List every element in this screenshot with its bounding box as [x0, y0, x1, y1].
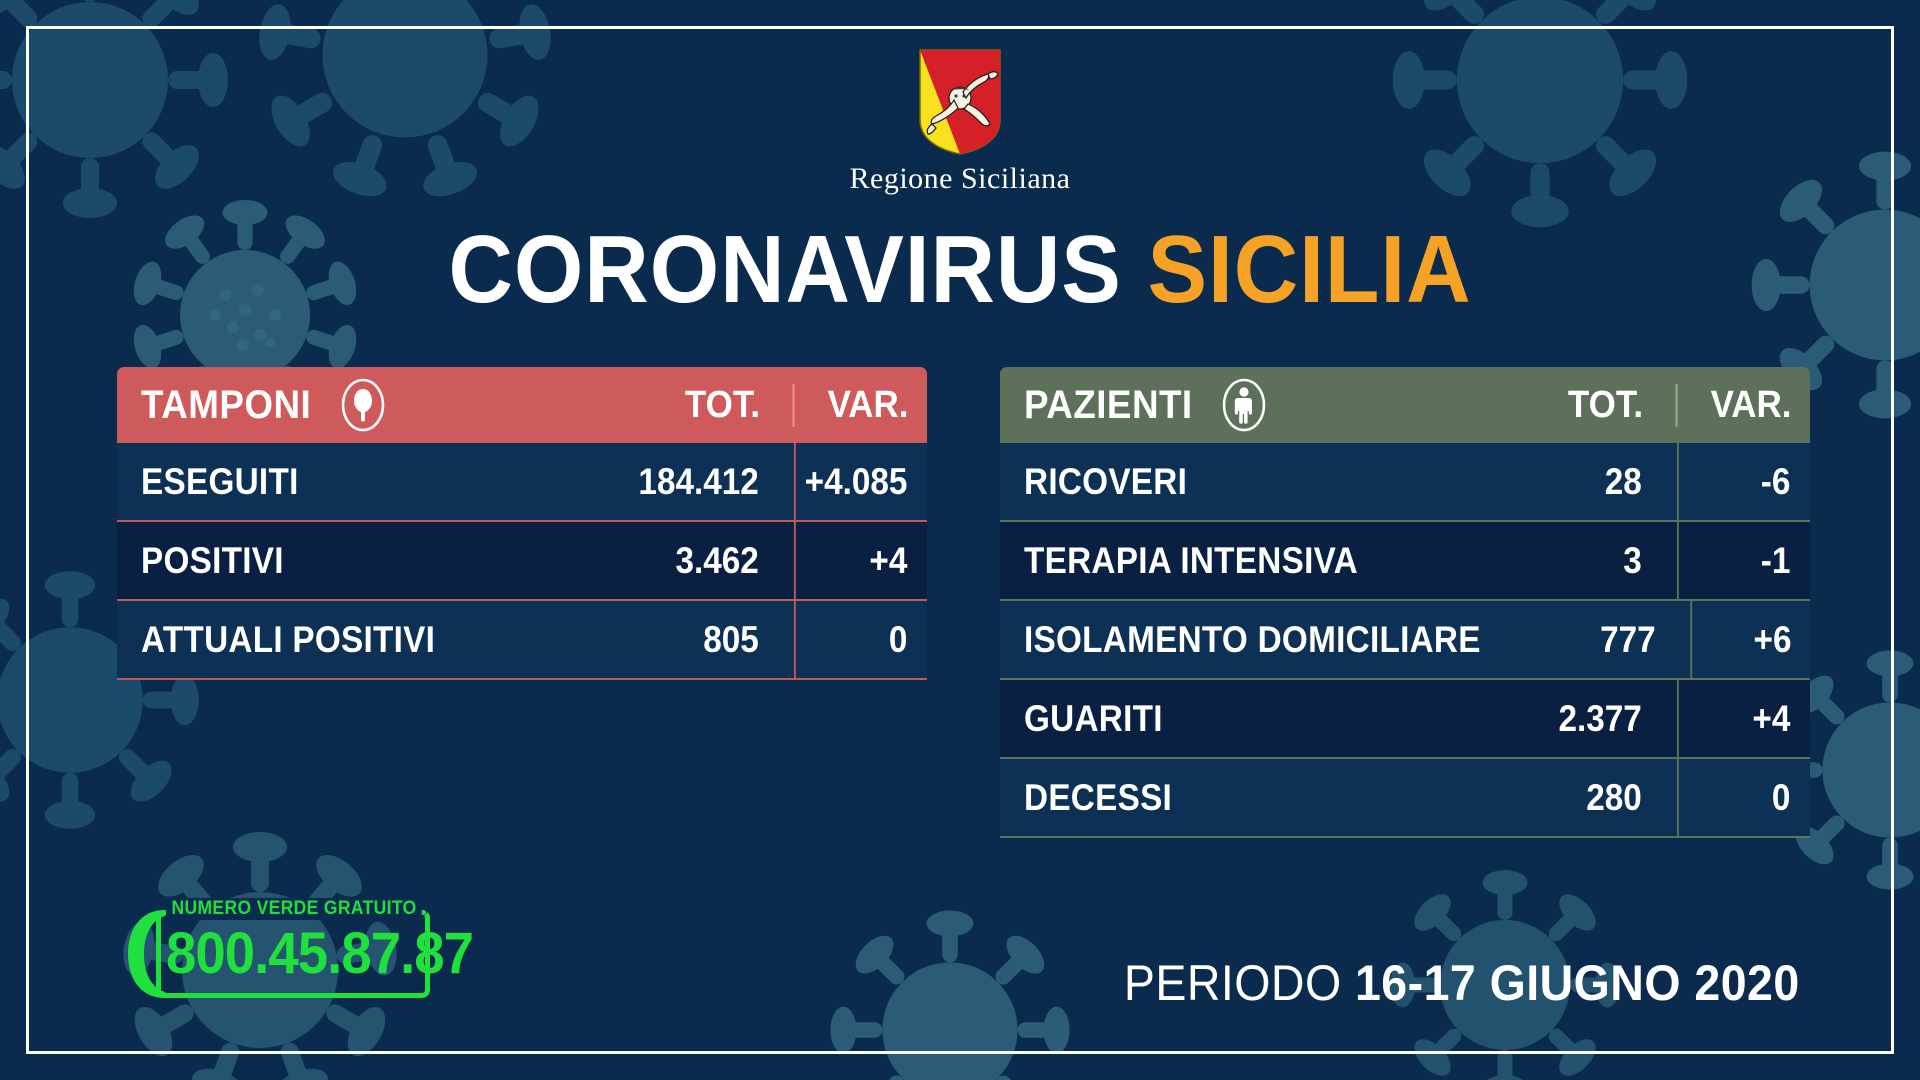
- hotline-box: NUMERO VERDE GRATUITO 800.45.87.87: [120, 898, 430, 1008]
- row-total: 777: [1539, 619, 1676, 661]
- virus-particle-icon: [820, 900, 1080, 1080]
- row-label: ESEGUITI: [141, 461, 299, 503]
- infographic-poster: Regione Siciliana CORONAVIRUS SICILIA TA…: [0, 0, 1920, 1080]
- tamponi-table-header: TAMPONI TOT. VAR.: [117, 367, 927, 443]
- title-accent: SICILIA: [1148, 216, 1472, 323]
- pazienti-header-title: PAZIENTI: [1024, 383, 1193, 428]
- tamponi-header-title: TAMPONI: [141, 383, 311, 428]
- row-variation: +6: [1690, 601, 1804, 678]
- row-variation: 0: [794, 601, 920, 678]
- table-row: ISOLAMENTO DOMICILIARE 777 +6: [1000, 601, 1810, 680]
- row-total: 184.412: [627, 461, 778, 503]
- table-row: DECESSI 280 0: [1000, 759, 1810, 838]
- table-row: TERAPIA INTENSIVA 3 -1: [1000, 522, 1810, 601]
- row-variation: +4: [1677, 680, 1803, 757]
- table-row: RICOVERI 28 -6: [1000, 443, 1810, 522]
- sicilian-trinacria-crest-icon: [918, 48, 1002, 156]
- page-title: CORONAVIRUS SICILIA: [67, 222, 1853, 318]
- pazienti-table: PAZIENTI TOT. VAR. RICOVERI 28 -6 TERAPI…: [1000, 367, 1810, 838]
- period-prefix: PERIODO: [1124, 955, 1342, 1011]
- row-label: ISOLAMENTO DOMICILIARE: [1024, 619, 1481, 661]
- row-label: POSITIVI: [141, 540, 284, 582]
- row-total: 3: [1510, 540, 1661, 582]
- swab-icon: [340, 378, 386, 432]
- row-variation: 0: [1677, 759, 1803, 836]
- row-total: 28: [1510, 461, 1661, 503]
- period-date: 16-17 GIUGNO 2020: [1355, 955, 1800, 1011]
- table-row: GUARITI 2.377 +4: [1000, 680, 1810, 759]
- hotline-label: NUMERO VERDE GRATUITO: [166, 898, 422, 920]
- row-variation: -6: [1677, 443, 1803, 520]
- row-total: 805: [627, 619, 778, 661]
- hotline-number[interactable]: 800.45.87.87: [166, 920, 473, 987]
- person-icon: [1221, 378, 1267, 432]
- row-variation: -1: [1677, 522, 1803, 599]
- table-row: ESEGUITI 184.412 +4.085: [117, 443, 927, 522]
- row-label: RICOVERI: [1024, 461, 1187, 503]
- table-row: ATTUALI POSITIVI 805 0: [117, 601, 927, 680]
- pazienti-col-total: TOT.: [1509, 384, 1664, 427]
- tamponi-table: TAMPONI TOT. VAR. ESEGUITI 184.412 +4.08…: [117, 367, 927, 680]
- poster-header: Regione Siciliana CORONAVIRUS SICILIA: [0, 48, 1920, 318]
- tamponi-col-total: TOT.: [626, 384, 781, 427]
- row-label: GUARITI: [1024, 698, 1163, 740]
- pazienti-table-header: PAZIENTI TOT. VAR.: [1000, 367, 1810, 443]
- pazienti-col-variation: VAR.: [1676, 384, 1805, 427]
- tamponi-col-variation: VAR.: [793, 384, 922, 427]
- row-label: ATTUALI POSITIVI: [141, 619, 435, 661]
- row-total: 2.377: [1510, 698, 1661, 740]
- row-total: 280: [1510, 777, 1661, 819]
- period-line: PERIODO 16-17 GIUGNO 2020: [1124, 954, 1800, 1012]
- title-primary: CORONAVIRUS: [449, 216, 1122, 323]
- region-name-label: Regione Siciliana: [0, 162, 1920, 196]
- row-variation: +4.085: [794, 443, 920, 520]
- row-label: TERAPIA INTENSIVA: [1024, 540, 1358, 582]
- table-row: POSITIVI 3.462 +4: [117, 522, 927, 601]
- row-label: DECESSI: [1024, 777, 1172, 819]
- row-total: 3.462: [627, 540, 778, 582]
- row-variation: +4: [794, 522, 920, 599]
